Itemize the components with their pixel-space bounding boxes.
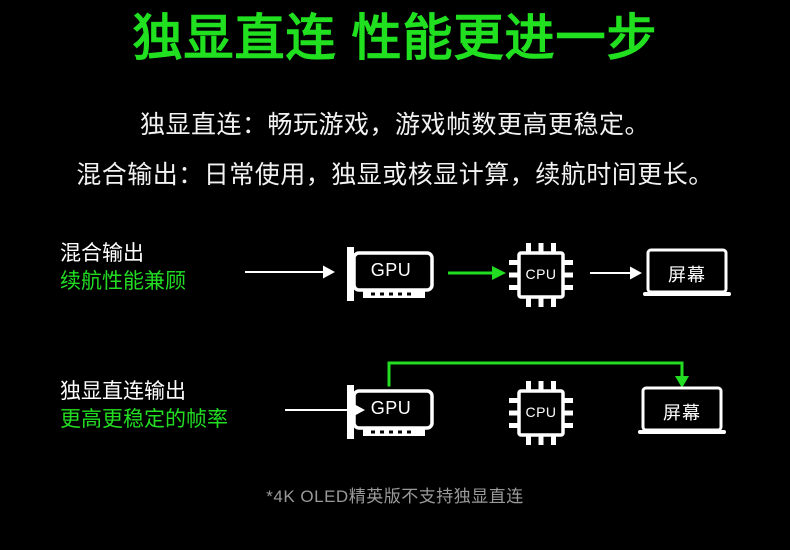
row-label-hybrid-title: 混合输出 (60, 240, 260, 268)
cpu-chip-icon-direct: CPU (508, 380, 574, 451)
footnote-text: *4K OLED精英版不支持独显直连 (0, 482, 790, 507)
promo-page: 独显直连 性能更进一步 独显直连：畅玩游戏，游戏帧数更高更稳定。 混合输出：日常… (0, 0, 790, 550)
gpu-card-icon-hybrid: GPU (345, 245, 437, 308)
cpu-chip-icon-hybrid: CPU (508, 242, 574, 313)
arrow-gpu-to-cpu-hybrid (448, 263, 506, 283)
row-label-direct-subtitle: 更高更稳定的帧率 (60, 406, 290, 434)
diagram-row-hybrid-output: 混合输出 续航性能兼顾 (0, 240, 790, 320)
screen-icon-direct: 屏幕 (638, 386, 726, 443)
diagram-row-direct-output: 独显直连输出 更高更稳定的帧率 GPU (0, 378, 790, 458)
gpu-card-icon-direct: GPU (345, 383, 437, 446)
row-label-direct: 独显直连输出 更高更稳定的帧率 (60, 378, 290, 434)
arrow-label-to-gpu-hybrid (245, 262, 335, 282)
row-label-direct-title: 独显直连输出 (60, 378, 290, 406)
screen-icon-hybrid: 屏幕 (643, 248, 731, 305)
description-line-1: 独显直连：畅玩游戏，游戏帧数更高更稳定。 (0, 108, 790, 142)
row-label-hybrid: 混合输出 续航性能兼顾 (60, 240, 260, 296)
description-line-2: 混合输出：日常使用，独显或核显计算，续航时间更长。 (0, 158, 790, 192)
arrow-cpu-to-screen-hybrid (590, 263, 642, 283)
page-title: 独显直连 性能更进一步 (0, 6, 790, 70)
row-label-hybrid-subtitle: 续航性能兼顾 (60, 268, 260, 296)
